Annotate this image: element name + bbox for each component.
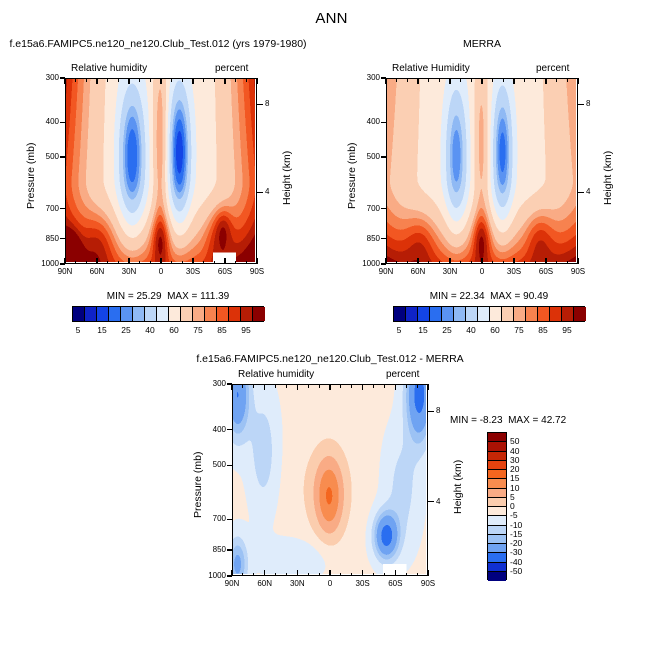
subtitle-units: percent (536, 63, 569, 74)
y-tick-major (60, 156, 65, 157)
y-tick-label: 850 (198, 545, 226, 554)
x-tick-major (362, 570, 363, 576)
height-tick (257, 104, 263, 105)
colorbar-swatch (488, 544, 506, 553)
colorbar-swatch (488, 526, 506, 535)
colorbar-swatch (169, 307, 181, 321)
x-tick-minor (567, 261, 568, 265)
x-tick-label: 30S (181, 267, 205, 276)
x-tick-minor (492, 261, 493, 265)
y-tick-major (60, 263, 65, 264)
x-tick-label: 60N (253, 579, 277, 588)
x-tick-major (545, 258, 546, 264)
colorbar-swatch (253, 307, 265, 321)
x-tick-minor (253, 573, 254, 577)
y-tick-major (227, 519, 232, 520)
x-tick-major-top (577, 78, 578, 84)
plot-area-diff (232, 384, 428, 576)
x-tick-minor (275, 573, 276, 577)
x-tick-label: 30S (351, 579, 375, 588)
colorbar-horizontal (72, 306, 264, 322)
max-value: MAX = 111.39 (167, 291, 229, 302)
colorbar-label: 5 (387, 325, 411, 335)
x-tick-major (297, 570, 298, 576)
x-tick-major (256, 258, 257, 264)
height-tick (428, 501, 434, 502)
x-tick-minor-top (246, 78, 247, 82)
x-tick-minor-top (107, 78, 108, 82)
plot-area-model (65, 78, 257, 264)
colorbar-swatch (478, 307, 490, 321)
x-tick-major (329, 570, 330, 576)
x-tick-major-top (64, 78, 65, 84)
y-tick-major (60, 77, 65, 78)
x-tick-minor (535, 261, 536, 265)
x-tick-minor-top (556, 78, 557, 82)
colorbar-swatch (466, 307, 478, 321)
x-tick-label: 90S (245, 267, 269, 276)
x-tick-minor-top (214, 78, 215, 82)
x-tick-minor (203, 261, 204, 265)
colorbar-label: 25 (435, 325, 459, 335)
x-tick-minor (524, 261, 525, 265)
colorbar-swatch (454, 307, 466, 321)
y-tick-major (227, 549, 232, 550)
x-tick-minor-top (351, 384, 352, 388)
plot-area-obs (386, 78, 578, 264)
colorbar-swatch (133, 307, 145, 321)
x-tick-major-top (96, 78, 97, 84)
x-tick-label: 0 (318, 579, 342, 588)
colorbar-label: 25 (114, 325, 138, 335)
y-tick-major (381, 122, 386, 123)
y-tick-label: 300 (198, 379, 226, 388)
colorbar-label: 15 (90, 325, 114, 335)
x-tick-major-top (329, 384, 330, 390)
x-tick-minor-top (242, 384, 243, 388)
colorbar-label: 85 (210, 325, 234, 335)
x-tick-major-top (231, 384, 232, 390)
colorbar-label: 75 (186, 325, 210, 335)
x-tick-major-top (362, 384, 363, 390)
x-tick-minor-top (319, 384, 320, 388)
y-tick-label: 1000 (352, 259, 380, 268)
colorbar-swatch (181, 307, 193, 321)
x-tick-minor (384, 573, 385, 577)
x-tick-minor (150, 261, 151, 265)
x-tick-major-top (417, 78, 418, 84)
colorbar-label: -50 (510, 566, 522, 576)
x-tick-major-top (481, 78, 482, 84)
y-tick-major (381, 156, 386, 157)
y-tick-label: 300 (352, 73, 380, 82)
y-tick-major (60, 208, 65, 209)
x-tick-minor (107, 261, 108, 265)
min-value: MIN = 25.29 (107, 291, 162, 302)
main-title: ANN (0, 10, 663, 27)
x-tick-major-top (264, 384, 265, 390)
x-tick-label: 90N (53, 267, 77, 276)
panel-title: f.e15a6.FAMIPC5.ne120_ne120.Club_Test.01… (8, 38, 308, 50)
height-tick-label: 8 (265, 99, 269, 108)
x-tick-minor (214, 261, 215, 265)
colorbar-label: 40 (459, 325, 483, 335)
x-tick-minor (118, 261, 119, 265)
colorbar-swatch (442, 307, 454, 321)
x-tick-minor (439, 261, 440, 265)
colorbar-swatch (550, 307, 562, 321)
colorbar-swatch (205, 307, 217, 321)
y-tick-major (227, 465, 232, 466)
colorbar-swatch (488, 516, 506, 525)
x-tick-minor (171, 261, 172, 265)
colorbar-swatch (73, 307, 85, 321)
colorbar-swatch (430, 307, 442, 321)
contour-field-model (66, 79, 255, 262)
y-tick-label: 400 (352, 117, 380, 126)
x-tick-minor-top (86, 78, 87, 82)
x-tick-minor-top (439, 78, 440, 82)
x-tick-minor (86, 261, 87, 265)
height-tick (257, 192, 263, 193)
colorbar-swatch (488, 507, 506, 516)
y-tick-major (227, 429, 232, 430)
x-tick-minor (286, 573, 287, 577)
x-tick-minor-top (253, 384, 254, 388)
subtitle-units: percent (215, 63, 248, 74)
colorbar-swatch (97, 307, 109, 321)
x-tick-minor-top (171, 78, 172, 82)
x-tick-minor-top (417, 384, 418, 388)
x-tick-minor-top (460, 78, 461, 82)
y-tick-label: 850 (352, 234, 380, 243)
colorbar-swatch (490, 307, 502, 321)
panel-title: f.e15a6.FAMIPC5.ne120_ne120.Club_Test.01… (155, 353, 505, 365)
colorbar-swatch (488, 572, 506, 581)
x-tick-label: 60N (85, 267, 109, 276)
colorbar-swatch (145, 307, 157, 321)
colorbar-label: 85 (531, 325, 555, 335)
x-tick-major (160, 258, 161, 264)
x-tick-major-top (297, 384, 298, 390)
x-tick-major (224, 258, 225, 264)
subtitle-variable: Relative humidity (71, 63, 147, 74)
x-tick-major (427, 570, 428, 576)
colorbar-swatch (488, 563, 506, 572)
y-tick-major (381, 238, 386, 239)
x-tick-major (395, 570, 396, 576)
x-tick-minor-top (139, 78, 140, 82)
x-tick-label: 60N (406, 267, 430, 276)
height-tick-label: 4 (436, 497, 440, 506)
x-tick-minor-top (275, 384, 276, 388)
x-tick-label: 60S (534, 267, 558, 276)
minmax-text: MIN = 22.34 MAX = 90.49 (363, 291, 615, 302)
x-tick-minor-top (492, 78, 493, 82)
colorbar-swatch (488, 498, 506, 507)
height-axis-title: Height (km) (281, 151, 293, 205)
x-tick-major (96, 258, 97, 264)
colorbar-swatch (85, 307, 97, 321)
x-tick-minor-top (471, 78, 472, 82)
x-tick-minor (407, 261, 408, 265)
x-tick-major (577, 258, 578, 264)
x-tick-minor-top (407, 78, 408, 82)
x-tick-minor-top (406, 384, 407, 388)
x-tick-label: 30N (438, 267, 462, 276)
height-tick-label: 8 (436, 406, 440, 415)
x-tick-minor (406, 573, 407, 577)
colorbar-swatch (562, 307, 574, 321)
x-tick-major-top (545, 78, 546, 84)
x-tick-minor-top (150, 78, 151, 82)
colorbar-swatch (488, 553, 506, 562)
x-tick-minor (75, 261, 76, 265)
x-tick-minor (319, 573, 320, 577)
colorbar-swatch (406, 307, 418, 321)
minmax-text: MIN = 25.29 MAX = 111.39 (42, 291, 294, 302)
colorbar-swatch (526, 307, 538, 321)
min-value: MIN = -8.23 (450, 415, 503, 426)
colorbar-label: 95 (234, 325, 258, 335)
colorbar-label: 5 (66, 325, 90, 335)
x-tick-minor (242, 573, 243, 577)
colorbar-swatch (488, 433, 506, 442)
x-tick-minor-top (308, 384, 309, 388)
y-tick-label: 400 (31, 117, 59, 126)
x-tick-major-top (224, 78, 225, 84)
x-tick-major-top (513, 78, 514, 84)
colorbar-swatch (538, 307, 550, 321)
colorbar-swatch (121, 307, 133, 321)
colorbar-swatch (488, 470, 506, 479)
height-tick-label: 8 (586, 99, 590, 108)
y-tick-major (381, 208, 386, 209)
x-tick-minor (556, 261, 557, 265)
height-tick-label: 4 (265, 187, 269, 196)
height-tick-label: 4 (586, 187, 590, 196)
colorbar-swatch (502, 307, 514, 321)
y-tick-major (381, 263, 386, 264)
x-tick-minor (417, 573, 418, 577)
colorbar-horizontal (393, 306, 585, 322)
colorbar-swatch (488, 489, 506, 498)
y-axis-title: Pressure (mb) (25, 142, 37, 209)
colorbar-swatch (488, 479, 506, 488)
x-tick-minor (351, 573, 352, 577)
x-tick-major (481, 258, 482, 264)
x-tick-label: 0 (149, 267, 173, 276)
x-tick-minor-top (535, 78, 536, 82)
colorbar-swatch (217, 307, 229, 321)
x-tick-minor-top (503, 78, 504, 82)
x-tick-major (417, 258, 418, 264)
colorbar-swatch (488, 461, 506, 470)
max-value: MAX = 90.49 (490, 291, 548, 302)
x-tick-major-top (449, 78, 450, 84)
colorbar-swatch (574, 307, 586, 321)
colorbar-label: 75 (507, 325, 531, 335)
colorbar-swatch (157, 307, 169, 321)
x-tick-minor-top (428, 78, 429, 82)
x-tick-major-top (128, 78, 129, 84)
x-tick-minor-top (203, 78, 204, 82)
y-tick-major (381, 77, 386, 78)
x-tick-major (513, 258, 514, 264)
x-tick-minor-top (118, 78, 119, 82)
x-tick-major-top (395, 384, 396, 390)
y-tick-label: 300 (31, 73, 59, 82)
y-tick-label: 400 (198, 425, 226, 434)
x-tick-minor (235, 261, 236, 265)
height-axis-title: Height (km) (602, 151, 614, 205)
y-axis-title: Pressure (mb) (346, 142, 358, 209)
x-tick-major-top (160, 78, 161, 84)
x-tick-label: 90S (416, 579, 440, 588)
x-tick-minor (308, 573, 309, 577)
x-tick-label: 0 (470, 267, 494, 276)
y-tick-major (227, 383, 232, 384)
colorbar-swatch (109, 307, 121, 321)
x-tick-minor (396, 261, 397, 265)
x-tick-minor-top (235, 78, 236, 82)
x-tick-label: 60S (383, 579, 407, 588)
colorbar-label: 15 (411, 325, 435, 335)
x-tick-minor-top (75, 78, 76, 82)
x-tick-label: 30N (117, 267, 141, 276)
x-tick-minor (139, 261, 140, 265)
x-tick-minor-top (396, 78, 397, 82)
colorbar-label: 60 (483, 325, 507, 335)
x-tick-major-top (192, 78, 193, 84)
x-tick-major-top (385, 78, 386, 84)
x-tick-minor-top (373, 384, 374, 388)
y-tick-label: 1000 (31, 259, 59, 268)
colorbar-swatch (229, 307, 241, 321)
x-tick-label: 90S (566, 267, 590, 276)
x-tick-major (264, 570, 265, 576)
x-tick-minor-top (567, 78, 568, 82)
x-tick-label: 90N (220, 579, 244, 588)
colorbar-label: 60 (162, 325, 186, 335)
colorbar-swatch (488, 535, 506, 544)
y-tick-major (60, 238, 65, 239)
y-tick-label: 850 (31, 234, 59, 243)
x-tick-minor-top (524, 78, 525, 82)
y-tick-major (227, 575, 232, 576)
colorbar-swatch (488, 442, 506, 451)
colorbar-swatch (241, 307, 253, 321)
height-tick (578, 192, 584, 193)
x-tick-label: 30N (285, 579, 309, 588)
y-tick-major (60, 122, 65, 123)
x-tick-label: 60S (213, 267, 237, 276)
subtitle-variable: Relative humidity (238, 369, 314, 380)
x-tick-minor (503, 261, 504, 265)
x-tick-minor (340, 573, 341, 577)
colorbar-label: 95 (555, 325, 579, 335)
y-tick-label: 1000 (198, 571, 226, 580)
x-tick-minor-top (182, 78, 183, 82)
x-tick-minor (246, 261, 247, 265)
x-tick-label: 30S (502, 267, 526, 276)
subtitle-units: percent (386, 369, 419, 380)
height-tick (578, 104, 584, 105)
colorbar-swatch (488, 452, 506, 461)
x-tick-major-top (427, 384, 428, 390)
colorbar-swatch (418, 307, 430, 321)
subtitle-variable: Relative Humidity (392, 63, 470, 74)
height-tick (428, 411, 434, 412)
x-tick-major-top (256, 78, 257, 84)
max-value: MAX = 42.72 (508, 415, 566, 426)
x-tick-label: 90N (374, 267, 398, 276)
colorbar-vertical (487, 432, 507, 580)
x-tick-minor-top (384, 384, 385, 388)
x-tick-major (128, 258, 129, 264)
x-tick-major (192, 258, 193, 264)
x-tick-minor-top (340, 384, 341, 388)
min-value: MIN = 22.34 (430, 291, 485, 302)
y-axis-title: Pressure (mb) (192, 451, 204, 518)
x-tick-minor (428, 261, 429, 265)
x-tick-minor (373, 573, 374, 577)
x-tick-minor (471, 261, 472, 265)
panel-title: MERRA (382, 38, 582, 50)
colorbar-label: 40 (138, 325, 162, 335)
colorbar-swatch (394, 307, 406, 321)
x-tick-minor (460, 261, 461, 265)
x-tick-minor-top (286, 384, 287, 388)
minmax-text: MIN = -8.23 MAX = 42.72 (450, 415, 566, 426)
x-tick-major (449, 258, 450, 264)
height-axis-title: Height (km) (452, 460, 464, 514)
colorbar-swatch (193, 307, 205, 321)
contour-field-obs (387, 79, 576, 262)
x-tick-minor (182, 261, 183, 265)
contour-field-diff (233, 385, 426, 574)
colorbar-swatch (514, 307, 526, 321)
